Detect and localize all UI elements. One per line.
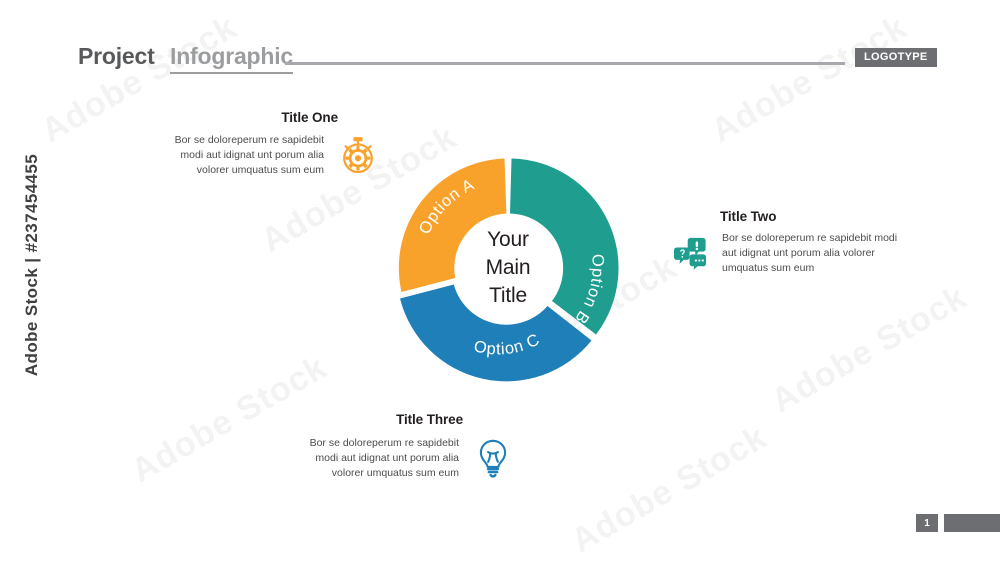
callout-two-title: Title Two <box>668 209 908 224</box>
callout-two-body: Bor se doloreperum re sapidebit modi aut… <box>712 231 908 276</box>
callout-title-one: Title One Bor se doloreperum re sapidebi… <box>150 110 380 178</box>
header-divider <box>285 62 845 65</box>
slide-header: Project Infographic LOGOTYPE <box>0 0 1000 95</box>
callout-one-title: Title One <box>150 110 380 125</box>
page-number-badge: 1 <box>916 514 938 532</box>
page-title-primary: Project <box>78 43 155 70</box>
infographic-slide: Adobe Stock Adobe Stock Adobe Stock Adob… <box>0 0 1000 562</box>
callout-three-title: Title Three <box>285 412 515 427</box>
speech-bubbles-icon <box>668 231 712 275</box>
logotype-badge: LOGOTYPE <box>855 48 937 67</box>
footer-bar <box>944 514 1000 532</box>
stopwatch-gear-icon <box>336 133 380 177</box>
page-title-secondary: Infographic <box>170 43 293 74</box>
donut-chart: Option A Option B Option C <box>398 158 618 378</box>
donut-segment-option-a[interactable] <box>399 159 507 293</box>
watermark-tile: Adobe Stock <box>565 418 774 561</box>
callout-title-two: Title Two <box>668 209 908 276</box>
donut-segment-option-b[interactable] <box>510 159 619 335</box>
lightbulb-icon <box>471 436 515 480</box>
stock-watermark-label: Adobe Stock | #237454455 <box>22 125 42 405</box>
callout-title-three: Title Three Bor se doloreperum re sapide… <box>285 412 515 481</box>
callout-three-body: Bor se doloreperum re sapidebit modi aut… <box>285 436 471 481</box>
watermark-tile: Adobe Stock <box>765 278 974 421</box>
callout-one-body: Bor se doloreperum re sapidebit modi aut… <box>150 133 336 178</box>
